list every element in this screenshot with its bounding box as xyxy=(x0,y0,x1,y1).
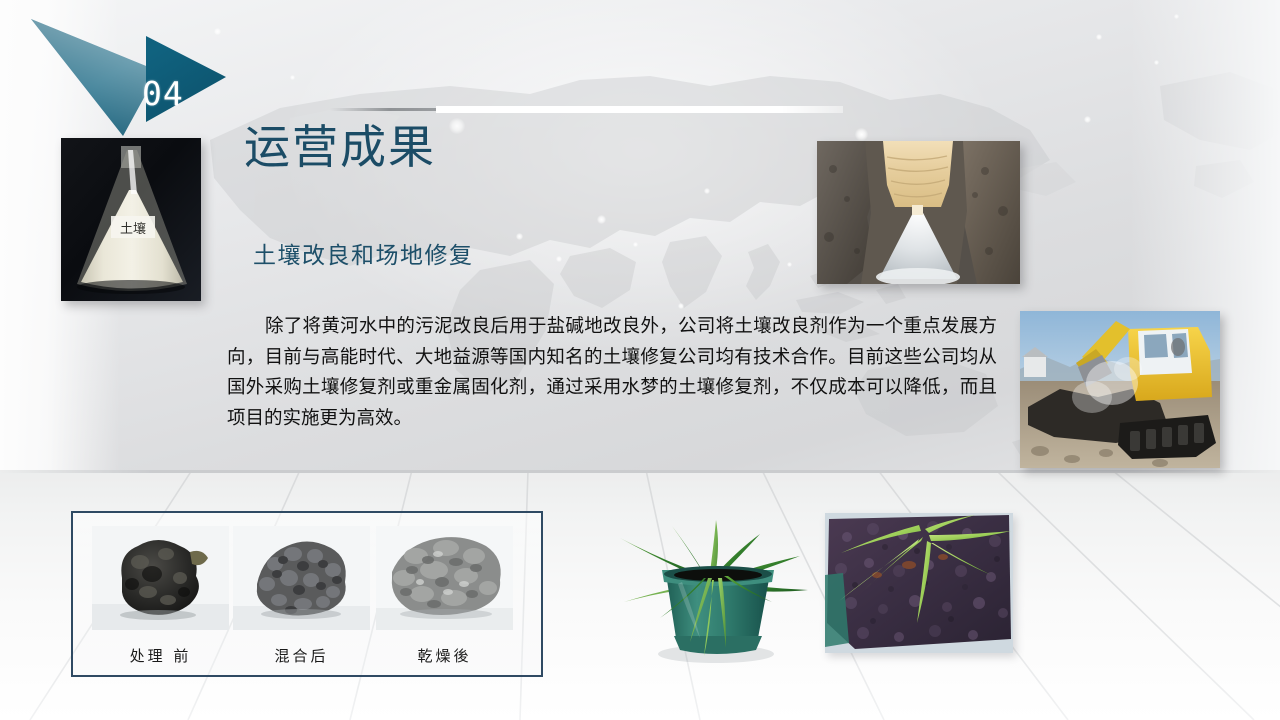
sparkle-dot xyxy=(633,242,638,247)
photo-spider-plant-dark-soil xyxy=(825,513,1013,653)
sparkle-dot xyxy=(678,303,684,309)
section-number-arrow: 04 xyxy=(26,14,231,142)
divider-gray-segment xyxy=(330,108,438,111)
floor-horizon-line xyxy=(0,470,1280,473)
body-paragraph: 除了将黄河水中的污泥改良后用于盐碱地改良外，公司将土壤改良剂作为一个重点发展方向… xyxy=(227,312,997,435)
photo-bulk-bag-powder xyxy=(817,141,1020,284)
divider-white-segment xyxy=(436,106,843,113)
sparkle-dot xyxy=(597,215,606,224)
photo-excavator-soil-mixing xyxy=(1020,311,1220,468)
sparkle-dot xyxy=(855,128,868,141)
sample-cell xyxy=(233,526,370,630)
svg-text:土壤: 土壤 xyxy=(120,221,146,237)
sparkle-dot xyxy=(449,118,465,134)
sparkle-dot xyxy=(704,188,710,194)
slide-canvas: 04 运营成果 土壤改良和场地修复 除了将黄河水中的污泥改良后用于盐碱地改良外，… xyxy=(0,0,1280,720)
sample-cell xyxy=(376,526,513,630)
photo-flask-soil-agent: 土壤 xyxy=(61,138,201,301)
sample-caption: 混合后 xyxy=(233,645,370,666)
right-edge-fade xyxy=(1130,0,1280,560)
sparkle-dot xyxy=(787,262,792,267)
sparkle-dot xyxy=(516,233,523,240)
sparkle-dot xyxy=(1084,116,1091,123)
sample-caption: 处理 前 xyxy=(92,645,229,666)
section-number: 04 xyxy=(142,74,184,113)
sample-comparison-box: 处理 前 混合后 乾燥後 xyxy=(71,511,543,677)
sparkle-dot xyxy=(556,256,562,262)
page-title: 运营成果 xyxy=(244,122,436,174)
sparkle-dot xyxy=(1174,14,1179,19)
sample-cell xyxy=(92,526,229,630)
title-divider xyxy=(330,106,843,115)
sample-caption: 乾燥後 xyxy=(376,645,513,666)
photo-spider-plant-pot xyxy=(604,516,820,666)
sparkle-dot xyxy=(290,75,295,80)
sparkle-dot xyxy=(1096,34,1102,40)
page-subtitle: 土壤改良和场地修复 xyxy=(253,236,474,270)
sparkle-dot xyxy=(1154,60,1159,65)
